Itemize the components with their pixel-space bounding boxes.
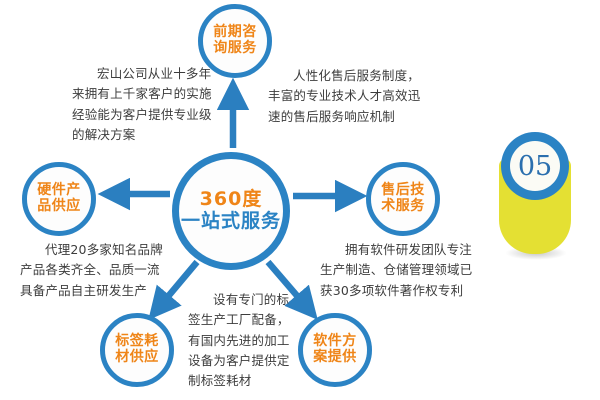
description-top-right: 人性化售后服务制度，丰富的专业技术人才高效迅速的售后服务响应机制 (268, 66, 426, 127)
description-right: 拥有软件研发团队专注生产制造、仓储管理领域已获30多项软件著作权专利 (320, 240, 482, 301)
node-left[interactable]: 硬件产 品供应 (22, 162, 96, 236)
center-node-line2: 一站式服务 (181, 211, 281, 233)
center-node-line1: 360度 (181, 189, 281, 211)
node-bottom-right-label: 软件方 案提供 (313, 334, 357, 365)
node-bottom-left-label: 标签耗 材供应 (115, 334, 159, 365)
badge-number: 05 (518, 153, 552, 180)
node-right-label: 售后技 术服务 (381, 183, 425, 214)
node-bottom-left[interactable]: 标签耗 材供应 (100, 313, 174, 387)
node-left-label: 硬件产 品供应 (37, 183, 81, 214)
diagram-canvas: 360度 一站式服务 前期咨 询服务 硬件产 品供应 售后技 术服务 标签耗 材… (0, 0, 600, 400)
description-left: 代理20多家知名品牌产品各类齐全、品质一流具备产品自主研发生产 (20, 240, 172, 301)
badge-inner-circle: 05 (510, 141, 560, 191)
description-bottom-center: 设有专门的标签生产工厂配备，有国内先进的加工设备为客户提供定制标签耗材 (188, 290, 292, 391)
badge-ring: 05 (501, 132, 569, 200)
center-node[interactable]: 360度 一站式服务 (172, 152, 290, 270)
node-bottom-right[interactable]: 软件方 案提供 (298, 313, 372, 387)
node-right[interactable]: 售后技 术服务 (366, 162, 440, 236)
node-top-label: 前期咨 询服务 (213, 25, 257, 56)
step-number-badge: 05 (499, 132, 571, 254)
description-top-left: 宏山公司从业十多年来拥有上千家客户的实施经验能为客户提供专业级的解决方案 (72, 64, 214, 145)
